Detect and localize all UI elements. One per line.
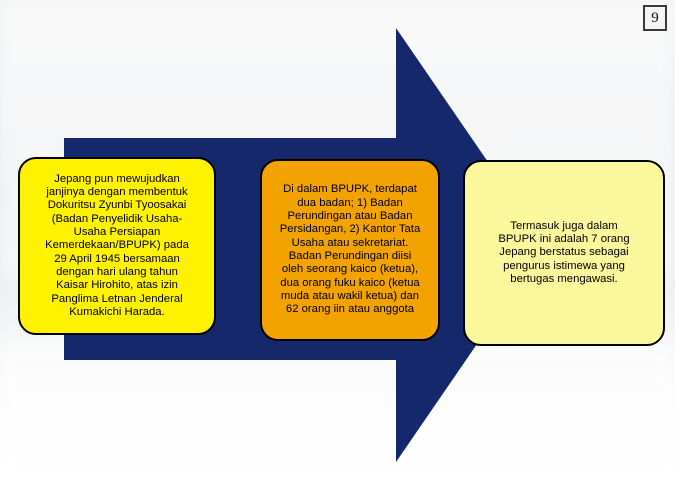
text-box-japanese-members[interactable]: Termasuk juga dalam BPUPK ini adalah 7 o… [463, 160, 665, 346]
text-box-bpupk-structure[interactable]: Di dalam BPUPK, terdapat dua badan; 1) B… [260, 159, 440, 341]
slide-canvas: Jepang pun mewujudkan janjinya dengan me… [0, 0, 675, 490]
text-box-japan-promise[interactable]: Jepang pun mewujudkan janjinya dengan me… [18, 157, 216, 335]
page-number-badge: 9 [643, 5, 667, 31]
